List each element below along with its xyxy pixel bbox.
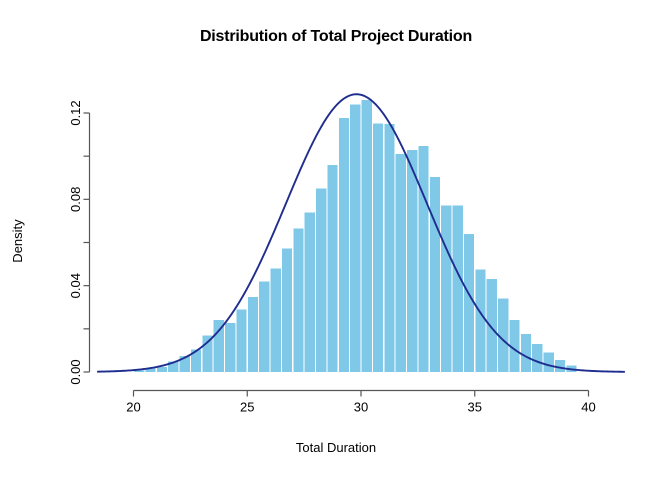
histogram-bar bbox=[293, 228, 303, 372]
x-axis-label: Total Duration bbox=[0, 440, 672, 455]
histogram-bars bbox=[134, 100, 576, 372]
histogram-bar bbox=[248, 297, 258, 372]
density-curve bbox=[97, 94, 625, 372]
histogram-bar bbox=[157, 367, 167, 372]
histogram-bar bbox=[418, 146, 428, 372]
x-axis: 2025303540 bbox=[126, 391, 595, 415]
histogram-bar bbox=[384, 124, 394, 372]
histogram-bar bbox=[487, 279, 497, 372]
histogram-bar bbox=[271, 268, 281, 372]
histogram-bar bbox=[555, 360, 565, 372]
histogram-bar bbox=[362, 100, 372, 372]
y-axis: 0.000.040.080.12 bbox=[68, 100, 90, 384]
x-axis-tick-label: 35 bbox=[468, 400, 482, 415]
histogram-bar bbox=[532, 344, 542, 372]
histogram-bar bbox=[396, 154, 406, 372]
x-axis-tick-label: 20 bbox=[126, 400, 140, 415]
x-axis-tick-label: 40 bbox=[581, 400, 595, 415]
y-axis-label: Density bbox=[10, 181, 25, 301]
histogram-bar bbox=[214, 320, 224, 372]
x-axis-tick-label: 25 bbox=[240, 400, 254, 415]
chart-canvas: Distribution of Total Project Duration 0… bbox=[0, 0, 672, 480]
histogram-bar bbox=[282, 249, 292, 372]
histogram-bar bbox=[225, 323, 235, 372]
histogram-bar bbox=[350, 104, 360, 372]
histogram-bar bbox=[339, 118, 349, 372]
histogram-bar bbox=[259, 281, 269, 372]
histogram-bar bbox=[464, 234, 474, 372]
y-axis-tick-label: 0.00 bbox=[68, 359, 83, 384]
x-axis-tick-label: 30 bbox=[354, 400, 368, 415]
histogram-bar bbox=[407, 150, 417, 372]
y-axis-tick-label: 0.04 bbox=[68, 273, 83, 298]
y-axis-tick-label: 0.12 bbox=[68, 100, 83, 125]
histogram-bar bbox=[441, 205, 451, 372]
histogram-bar bbox=[236, 309, 246, 372]
histogram-bar bbox=[475, 269, 485, 372]
histogram-bar bbox=[373, 123, 383, 372]
y-axis-tick-label: 0.08 bbox=[68, 187, 83, 212]
histogram-bar bbox=[544, 353, 554, 372]
histogram-bar bbox=[430, 177, 440, 372]
histogram-bar bbox=[327, 165, 337, 372]
histogram-bar bbox=[305, 212, 315, 372]
histogram-bar bbox=[316, 189, 326, 372]
histogram-bar bbox=[453, 205, 463, 372]
histogram-plot: 0.000.040.080.122025303540 bbox=[0, 0, 672, 480]
histogram-bar bbox=[521, 334, 531, 372]
